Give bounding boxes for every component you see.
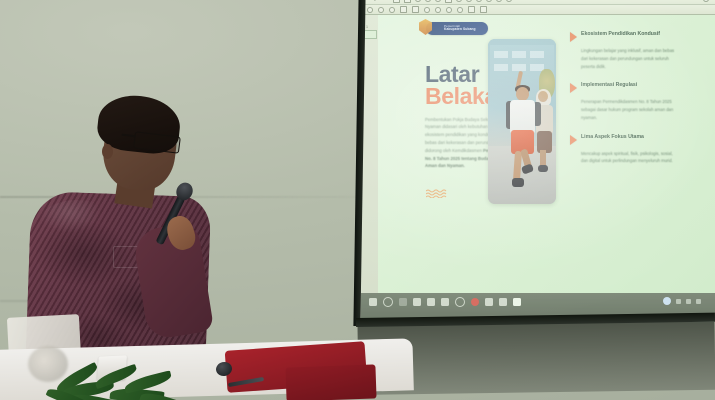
arrow-bullet-icon: [570, 83, 577, 93]
text-color-icon[interactable]: [424, 7, 430, 13]
list-icon[interactable]: [468, 6, 475, 13]
photos-icon[interactable]: [499, 298, 507, 306]
slide-view-label: Slide 1: [688, 0, 699, 1]
government-badge: Pemerintah Kabupaten Subang: [426, 22, 488, 35]
bold-icon[interactable]: [389, 7, 395, 13]
slide-right-column: Ekosistem Pendidikan Kondusif Lingkungan…: [570, 31, 675, 177]
undo-icon[interactable]: [393, 0, 400, 3]
slide-thumbnail-number: 1: [366, 25, 368, 29]
presentation-app-window: Google Slides Slide 1: [361, 0, 715, 322]
slide-point-2: Implementasi Regulasi Penerapan Permendi…: [570, 82, 675, 121]
user-icon[interactable]: [485, 298, 493, 306]
point-3-body: Mencakup aspek spiritual, fisik, psikolo…: [581, 150, 675, 166]
search-icon[interactable]: [383, 297, 393, 307]
app-title-label: Google Slides: [367, 0, 389, 1]
align-icon[interactable]: [457, 7, 463, 13]
font-increase-icon[interactable]: [378, 7, 384, 13]
arrow-bullet-icon: [570, 32, 577, 42]
arrow-bullet-icon: [570, 135, 577, 145]
screen-surface: Google Slides Slide 1: [361, 0, 715, 322]
screenshot-root: Google Slides Slide 1: [0, 0, 715, 400]
slide-point-3: Lima Aspek Fokus Utama Mencakup aspek sp…: [570, 134, 675, 166]
slide-canvas[interactable]: Pemerintah Kabupaten Subang Latar Belaka…: [378, 15, 715, 293]
battery-icon[interactable]: [696, 299, 701, 304]
table-cloth-red-fold: [285, 364, 376, 400]
slide-point-1: Ekosistem Pendidikan Kondusif Lingkungan…: [570, 31, 675, 70]
line-icon[interactable]: [486, 0, 492, 2]
projection-screen: Google Slides Slide 1: [356, 0, 715, 339]
shape-icon[interactable]: [476, 0, 482, 2]
photo-main-student: [505, 73, 541, 198]
slide-photo-student: [488, 39, 556, 204]
app-toolbar-row-2[interactable]: [361, 5, 715, 15]
windows-start-icon[interactable]: [369, 298, 377, 306]
volume-icon[interactable]: [686, 299, 691, 304]
slide-thumbnail-1[interactable]: [364, 30, 377, 39]
theme-icon[interactable]: [506, 0, 512, 2]
network-icon[interactable]: [676, 299, 681, 304]
point-2-title: Implementasi Regulasi: [581, 82, 637, 90]
account-avatar-icon[interactable]: [663, 297, 671, 305]
paint-format-icon[interactable]: [425, 0, 431, 2]
more-options-icon[interactable]: [480, 6, 487, 13]
badge-line-2: Kabupaten Subang: [444, 28, 476, 32]
squiggle-decoration: [426, 189, 448, 198]
underline-icon[interactable]: [412, 6, 419, 13]
flower-arrangement: [28, 346, 68, 382]
point-1-title: Ekosistem Pendidikan Kondusif: [581, 31, 660, 39]
point-2-body: Penerapan Permendikdasmen No. 8 Tahun 20…: [581, 98, 675, 121]
mail-icon[interactable]: [441, 298, 449, 306]
image-icon[interactable]: [466, 0, 472, 2]
file-explorer-icon[interactable]: [413, 298, 421, 306]
link-icon[interactable]: [446, 7, 452, 13]
powerpoint-icon[interactable]: [471, 298, 479, 306]
slides-icon[interactable]: [513, 298, 521, 306]
task-view-icon[interactable]: [399, 298, 407, 306]
font-decrease-icon[interactable]: [367, 7, 373, 13]
print-icon[interactable]: [415, 0, 421, 2]
italic-icon[interactable]: [400, 6, 407, 13]
redo-icon[interactable]: [404, 0, 411, 3]
comment-icon[interactable]: [496, 0, 502, 2]
foreground-table: [0, 340, 414, 400]
clock-icon[interactable]: [706, 297, 707, 305]
point-3-title: Lima Aspek Fokus Utama: [581, 134, 644, 142]
textbox-icon[interactable]: [456, 0, 462, 2]
highlight-icon[interactable]: [435, 7, 441, 13]
point-1-body: Lingkungan belajar yang inklusif, aman d…: [581, 47, 675, 70]
zoom-icon[interactable]: [435, 0, 441, 2]
potted-plant: [28, 346, 208, 400]
select-icon[interactable]: [445, 0, 452, 3]
settings-icon[interactable]: [455, 297, 465, 307]
browser-icon[interactable]: [427, 298, 435, 306]
present-icon[interactable]: [703, 0, 709, 2]
